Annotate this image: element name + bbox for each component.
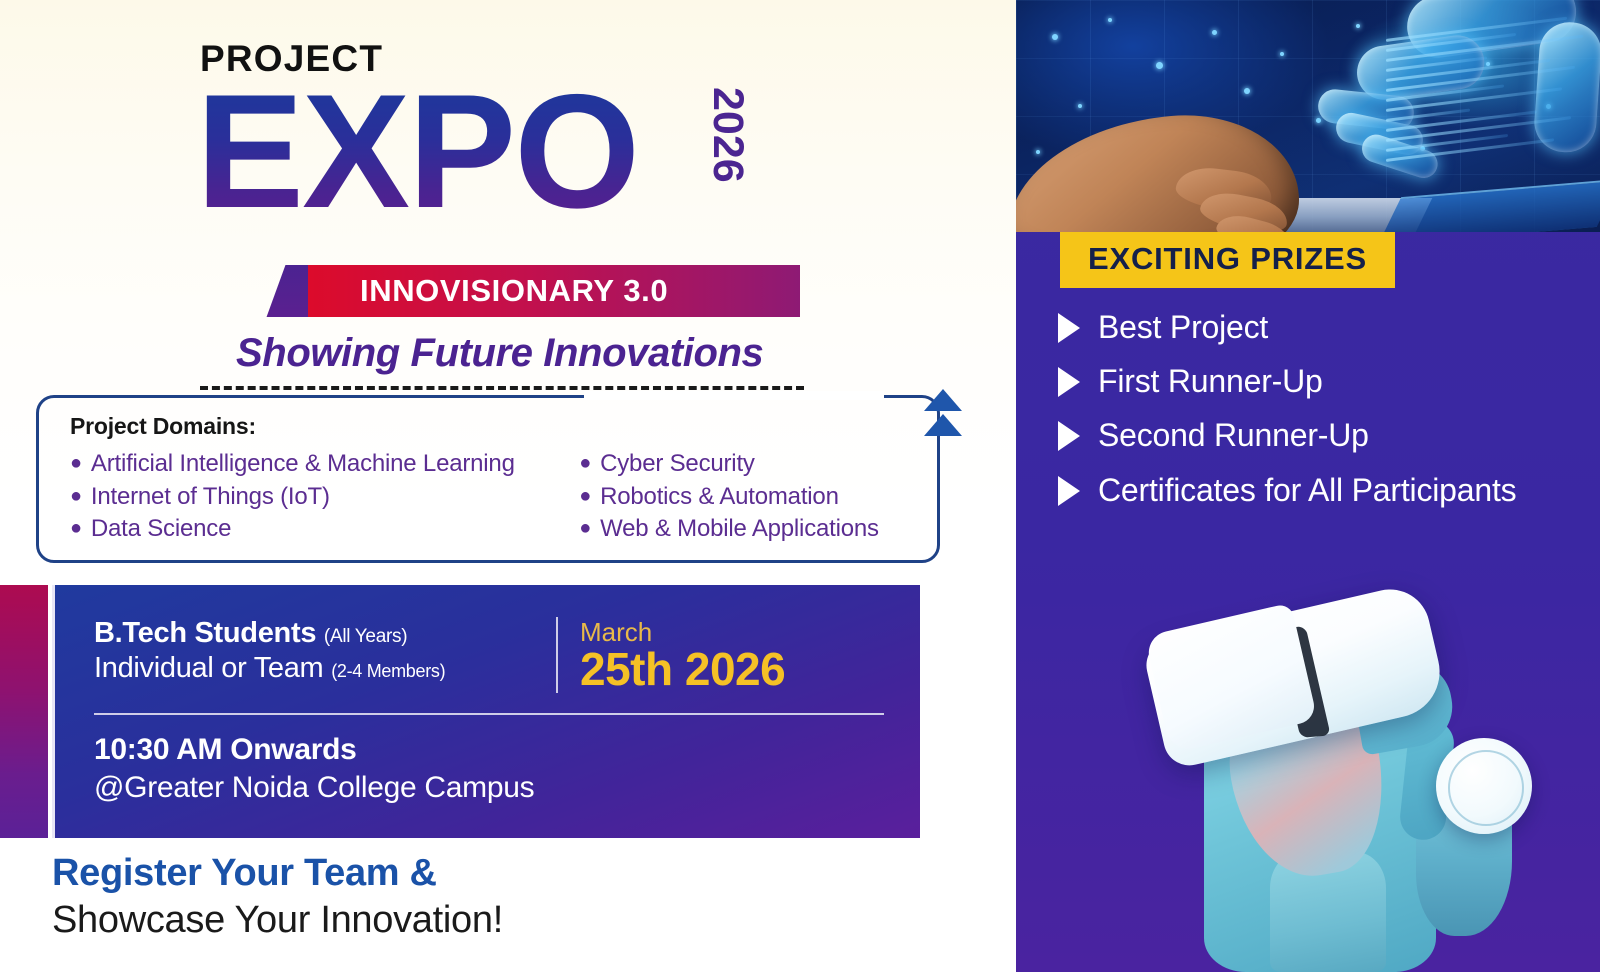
time-and-venue: 10:30 AM Onwards @Greater Noida College …	[94, 733, 534, 805]
prize-label: First Runner-Up	[1098, 360, 1323, 402]
eligibility-title: B.Tech Students	[94, 617, 316, 649]
triangle-up-icon	[924, 414, 962, 436]
triangle-right-icon	[1058, 367, 1080, 397]
project-domains-title: Project Domains:	[70, 413, 922, 440]
vr-earcup-ring-decor	[1448, 750, 1524, 826]
eligibility-and-date: B.Tech Students (All Years) Individual o…	[94, 617, 785, 693]
domains-column-right: ● Cyber Security ● Robotics & Automation…	[579, 448, 922, 546]
domain-label: Data Science	[91, 513, 231, 546]
domain-label: Artificial Intelligence & Machine Learni…	[91, 448, 515, 481]
bullet-icon: ●	[70, 453, 82, 473]
triangle-up-icon	[924, 389, 962, 411]
list-item: ● Data Science	[70, 513, 579, 546]
list-item: ● Robotics & Automation	[579, 481, 922, 514]
list-item: First Runner-Up	[1058, 360, 1578, 402]
eligibility-block: B.Tech Students (All Years) Individual o…	[94, 617, 556, 685]
bullet-icon: ●	[579, 453, 591, 473]
event-date-block: March 25th 2026	[580, 617, 785, 693]
triangle-marker-group	[924, 389, 968, 439]
logo-wordmark: EXPO	[196, 71, 638, 233]
prizes-badge: EXCITING PRIZES	[1060, 232, 1395, 288]
list-item: ● Artificial Intelligence & Machine Lear…	[70, 448, 579, 481]
domain-label: Robotics & Automation	[600, 481, 839, 514]
date-day-year: 25th 2026	[580, 645, 785, 693]
team-line: Individual or Team (2-4 Members)	[94, 652, 556, 685]
woman-wearing-vr-headset-photo	[1056, 552, 1586, 972]
panel-horizontal-rule	[94, 713, 884, 715]
logo-subtitle-banner: INNOVISIONARY 3.0	[196, 265, 816, 317]
list-item: Certificates for All Participants	[1058, 469, 1578, 511]
triangle-right-icon	[1058, 421, 1080, 451]
domains-column-left: ● Artificial Intelligence & Machine Lear…	[70, 448, 579, 546]
bullet-icon: ●	[70, 518, 82, 538]
domains-box-border-gap	[584, 391, 884, 400]
domain-label: Cyber Security	[600, 448, 755, 481]
project-domains-columns: ● Artificial Intelligence & Machine Lear…	[70, 448, 922, 546]
logo-wordmark-row: EXPO 2026	[196, 79, 816, 229]
details-accent-strip	[0, 585, 48, 838]
bullet-icon: ●	[579, 486, 591, 506]
list-item: ● Internet of Things (IoT)	[70, 481, 579, 514]
vr-earcup-decor	[1436, 738, 1532, 834]
prizes-badge-label: EXCITING PRIZES	[1088, 241, 1367, 276]
poster-root: PROJECT EXPO 2026 INNOVISIONARY 3.0 Show…	[0, 0, 1600, 972]
domain-label: Internet of Things (IoT)	[91, 481, 330, 514]
prizes-list: Best Project First Runner-Up Second Runn…	[1058, 306, 1578, 523]
bullet-icon: ●	[579, 518, 591, 538]
cta-line-2: Showcase Your Innovation!	[52, 899, 503, 942]
event-details-panel: B.Tech Students (All Years) Individual o…	[52, 585, 920, 838]
robot-hand-human-hand-laptop-photo	[1016, 0, 1600, 232]
event-venue: @Greater Noida College Campus	[94, 771, 534, 805]
eligibility-line: B.Tech Students (All Years)	[94, 617, 556, 650]
domain-label: Web & Mobile Applications	[600, 513, 879, 546]
logo-year: 2026	[703, 87, 752, 183]
event-logo: PROJECT EXPO 2026 INNOVISIONARY 3.0 Show…	[196, 40, 816, 390]
eligibility-note: (All Years)	[324, 626, 407, 647]
triangle-right-icon	[1058, 313, 1080, 343]
date-month: March	[580, 619, 785, 645]
banner-label: INNOVISIONARY 3.0	[360, 273, 668, 309]
logo-tagline: Showing Future Innovations	[236, 331, 816, 376]
dashed-divider	[200, 386, 804, 390]
list-item: ● Web & Mobile Applications	[579, 513, 922, 546]
triangle-right-icon	[1058, 476, 1080, 506]
prize-label: Best Project	[1098, 306, 1268, 348]
cta-line-1: Register Your Team &	[52, 852, 503, 895]
list-item: ● Cyber Security	[579, 448, 922, 481]
left-content-column: PROJECT EXPO 2026 INNOVISIONARY 3.0 Show…	[0, 0, 1016, 972]
bullet-icon: ●	[70, 486, 82, 506]
banner-bar: INNOVISIONARY 3.0	[308, 265, 800, 317]
list-item: Best Project	[1058, 306, 1578, 348]
event-time: 10:30 AM Onwards	[94, 733, 534, 767]
list-item: Second Runner-Up	[1058, 414, 1578, 456]
right-visual-column: EXCITING PRIZES Best Project First Runne…	[1016, 0, 1600, 972]
panel-left-rule	[52, 585, 55, 838]
call-to-action: Register Your Team & Showcase Your Innov…	[52, 852, 503, 942]
vertical-divider	[556, 617, 558, 693]
prize-label: Certificates for All Participants	[1098, 469, 1516, 511]
team-note: (2-4 Members)	[331, 661, 445, 681]
project-domains-content: Project Domains: ● Artificial Intelligen…	[70, 413, 922, 546]
team-title: Individual or Team	[94, 652, 323, 684]
prize-label: Second Runner-Up	[1098, 414, 1369, 456]
project-domains-section: Project Domains: ● Artificial Intelligen…	[36, 395, 940, 563]
